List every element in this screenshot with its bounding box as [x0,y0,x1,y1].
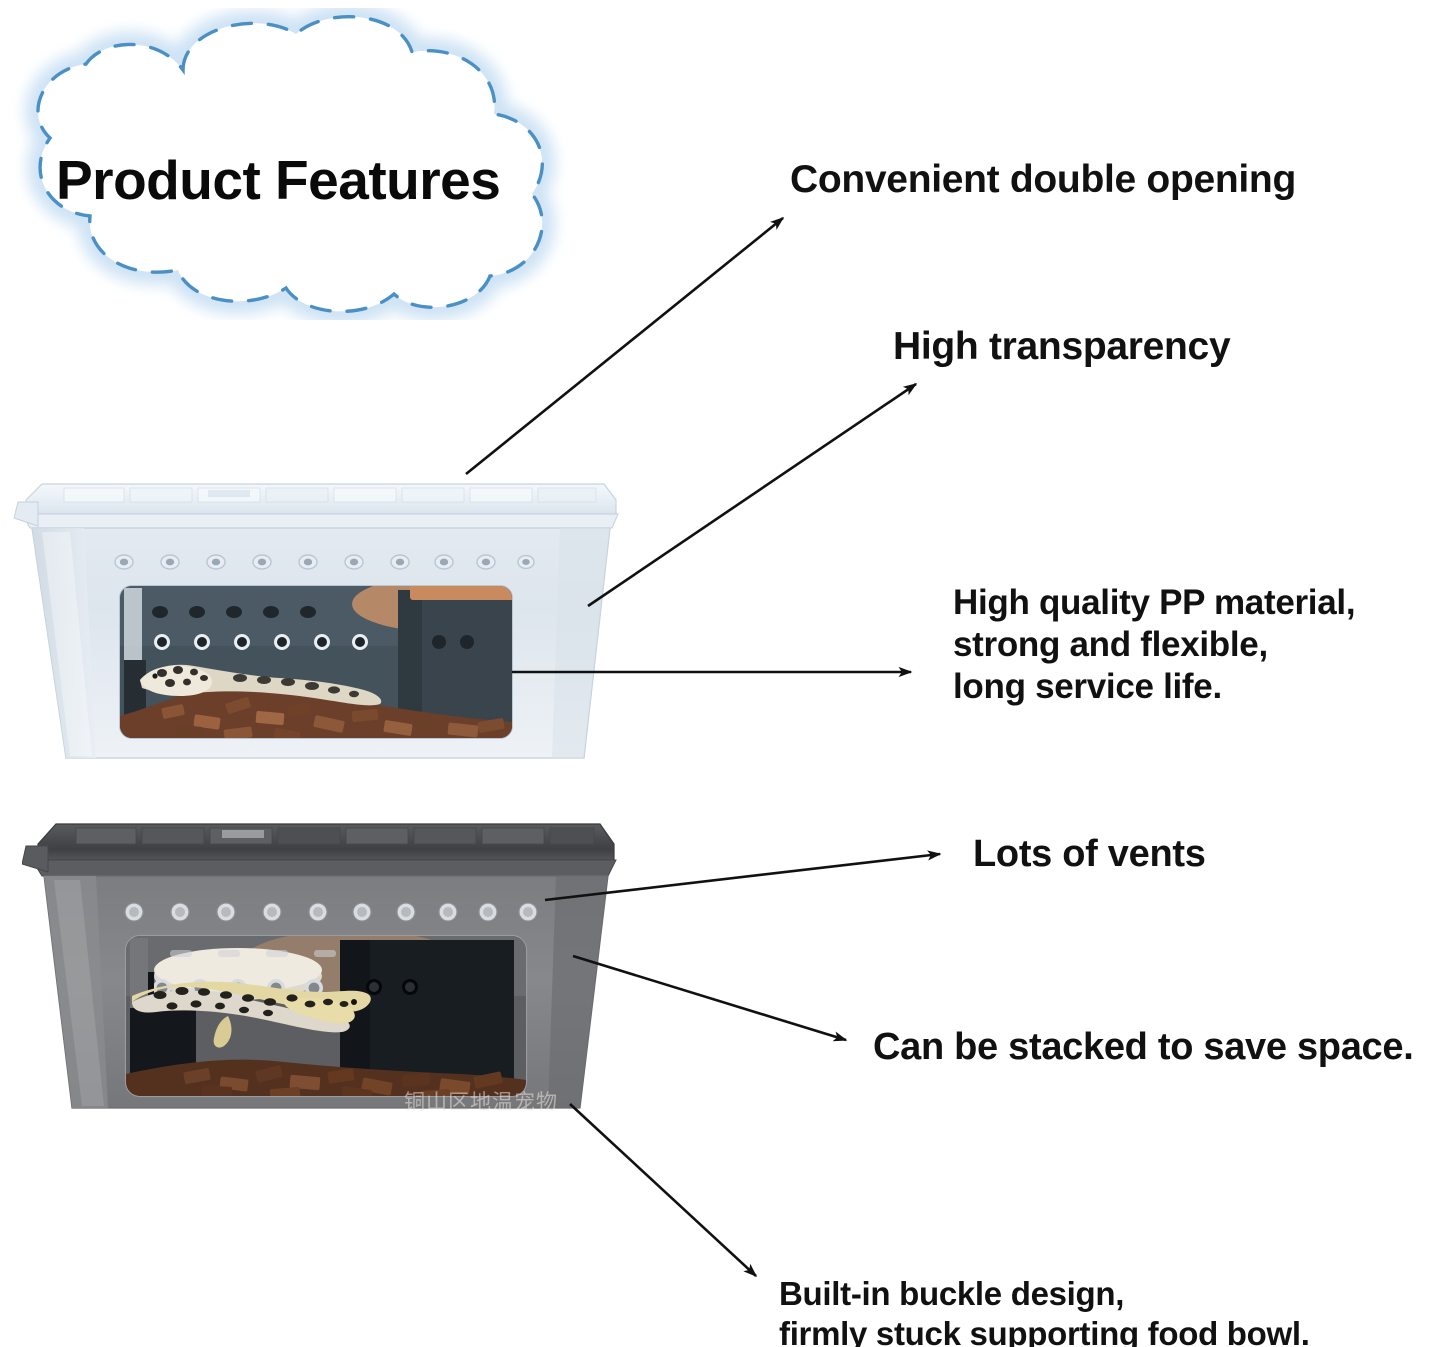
dark-box-illustration [22,812,622,1114]
clear-box-illustration [12,470,626,766]
feature-label-buckle-design: Built-in buckle design, firmly stuck sup… [779,1274,1310,1347]
product-photo-dark-box [22,812,622,1114]
dark-box-latch-left [22,846,48,872]
infographic-page: Product Features [0,0,1445,1347]
feature-label-lots-of-vents: Lots of vents [973,833,1206,876]
dark-box-right-facet [548,876,608,1108]
page-title: Product Features [56,148,556,212]
product-photo-clear-box [12,470,626,766]
feature-label-stackable: Can be stacked to save space. [873,1026,1413,1069]
clear-box-right-facet [552,528,610,758]
feature-label-double-opening: Convenient double opening [790,158,1296,202]
clear-box-latch-left [14,502,38,526]
dark-box-lid-ridges [76,828,594,844]
dark-box-lid-rim [32,860,616,876]
feature-label-pp-material: High quality PP material, strong and fle… [953,582,1355,708]
arrow-high-transparency [588,384,916,606]
dark-box-interior [126,930,526,1102]
clear-box-lid-rim [22,514,618,528]
cloud-banner: Product Features [8,8,568,320]
clear-box-interior [120,576,532,742]
watermark-text: 铜山区地温宠物 [404,1086,558,1116]
feature-label-high-transparency: High transparency [893,325,1230,369]
arrow-buckle-design [570,1104,756,1276]
